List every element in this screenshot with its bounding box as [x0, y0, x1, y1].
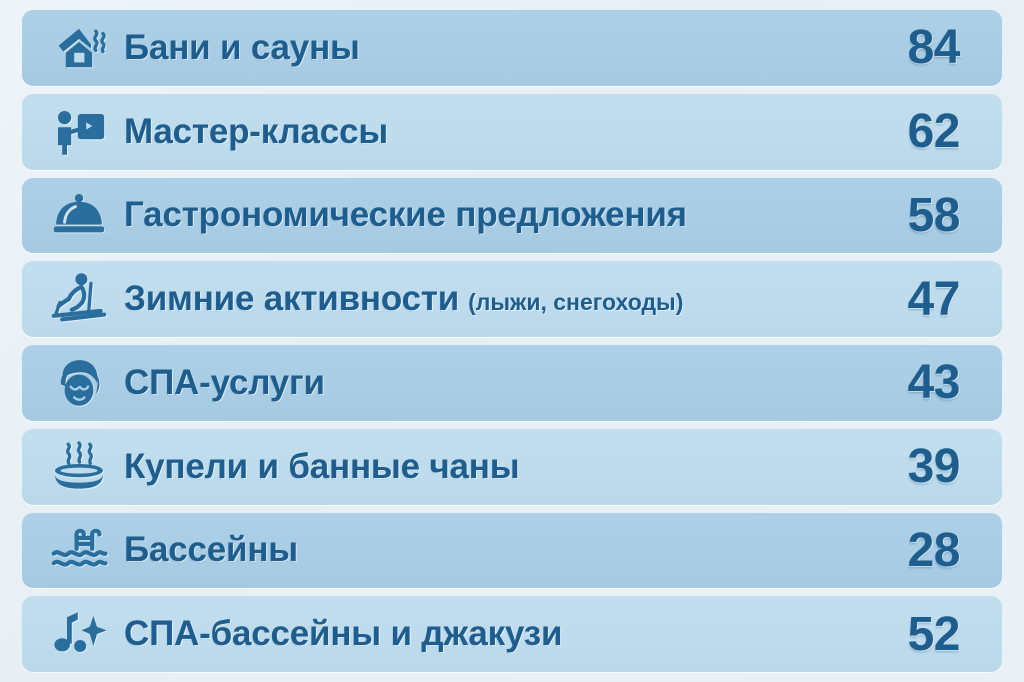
- list-item-value-cell: 39: [840, 439, 984, 494]
- list-item-value: 47: [908, 273, 960, 326]
- list-item[interactable]: Бассейны 28: [22, 513, 1002, 589]
- list-item[interactable]: Купели и банные чаны 39: [22, 429, 1002, 505]
- list-item-label-group: Зимние активности (лыжи, снегоходы): [122, 279, 840, 319]
- list-item[interactable]: СПА-услуги 43: [22, 345, 1002, 421]
- list-item-label-group: СПА-бассейны и джакузи: [122, 614, 840, 654]
- list-item-value: 62: [908, 105, 960, 158]
- list-item-value: 84: [908, 21, 960, 74]
- list-item-label: Купели и банные чаны: [124, 447, 519, 487]
- list-item-value-cell: 52: [840, 607, 984, 662]
- person-whiteboard-icon: [36, 94, 122, 170]
- list-item[interactable]: СПА-бассейны и джакузи 52: [22, 596, 1002, 672]
- swimming-pool-ladder-icon: [36, 513, 122, 589]
- list-item-label: СПА-услуги: [124, 363, 325, 403]
- list-item-label-group: Бассейны: [122, 530, 840, 570]
- list-item[interactable]: Бани и сауны 84: [22, 10, 1002, 86]
- list-item-label: Зимние активности: [124, 279, 459, 319]
- list-item-label: Бассейны: [124, 530, 298, 570]
- list-item-value: 52: [908, 608, 960, 661]
- list-item-label: СПА-бассейны и джакузи: [124, 614, 562, 654]
- skier-icon: [36, 261, 122, 337]
- list-item-label: Гастрономические предложения: [124, 195, 687, 235]
- list-item-note: (лыжи, снегоходы): [468, 289, 683, 316]
- list-item-value-cell: 47: [840, 272, 984, 327]
- spa-face-icon: [36, 345, 122, 421]
- list-item[interactable]: Гастрономические предложения 58: [22, 178, 1002, 254]
- list-item-value-cell: 43: [840, 355, 984, 410]
- list-item-value: 43: [908, 356, 960, 409]
- list-item-label-group: СПА-услуги: [122, 363, 840, 403]
- list-item-value-cell: 58: [840, 188, 984, 243]
- list-item-label-group: Бани и сауны: [122, 28, 840, 68]
- list-item-label: Мастер-классы: [124, 112, 388, 152]
- list-item-value-cell: 84: [840, 20, 984, 75]
- list-item-value: 58: [908, 189, 960, 242]
- list-item-value: 39: [908, 440, 960, 493]
- house-steam-icon: [36, 10, 122, 86]
- list-item[interactable]: Зимние активности (лыжи, снегоходы) 47: [22, 261, 1002, 337]
- hot-tub-steam-icon: [36, 429, 122, 505]
- list-item-label-group: Купели и банные чаны: [122, 447, 840, 487]
- food-cloche-icon: [36, 178, 122, 254]
- list-item-value-cell: 28: [840, 523, 984, 578]
- list-item-value: 28: [908, 524, 960, 577]
- list-item-label-group: Гастрономические предложения: [122, 195, 840, 235]
- music-note-sparkle-icon: [36, 596, 122, 672]
- list-item-label: Бани и сауны: [124, 28, 360, 68]
- list-item[interactable]: Мастер-классы 62: [22, 94, 1002, 170]
- category-list-infographic: Бани и сауны 84 Мастер-классы 62: [0, 0, 1024, 682]
- list-item-label-group: Мастер-классы: [122, 112, 840, 152]
- list-item-value-cell: 62: [840, 104, 984, 159]
